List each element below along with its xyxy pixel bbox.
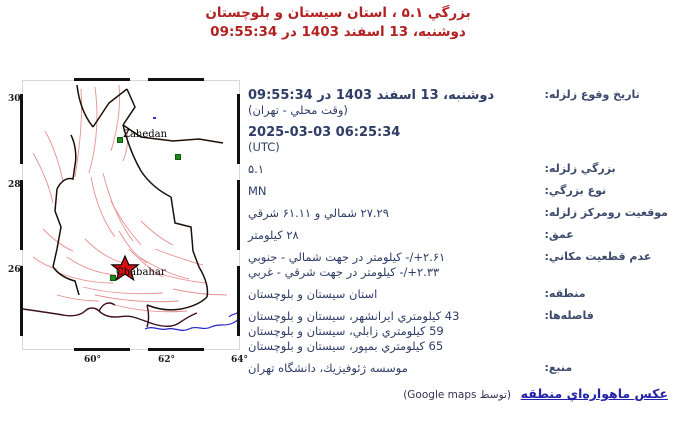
table-row: تاریخ وقوع زلزله: دوشنبه، 13 اسفند 1403 … [248,88,668,125]
row-label-depth: عمق: [545,228,668,250]
table-row: موقعیت رومركز زلزله: ۲۷.۲۹ شمالي و ۶۱.۱۱… [248,206,668,228]
row-label-origin-time-utc [545,125,668,162]
region-value: استان سیستان و بلوچستان [248,287,545,302]
table-row: عدم قطعیت مكاني: ۲.۶۱+/- كیلومتر در جهت … [248,250,668,287]
table-row: بزرگي زلزله: ۵.۱ [248,162,668,184]
sea-boundary [145,311,239,330]
city-label-zahedan: Zahedan [123,129,167,140]
map-frame-tick-right-1 [237,94,240,164]
table-row: منطقه: استان سیستان و بلوچستان [248,287,668,309]
row-label-distances: فاصله‌ها: [545,309,668,361]
magnitude-type-value: MN [248,184,545,199]
map-frame-tick-left-1 [20,94,23,164]
row-label-source: منبع: [545,361,668,383]
map-point-blue [153,117,156,119]
row-label-location-uncertainty: عدم قطعیت مكاني: [545,250,668,287]
uncertainty-north-south: ۲.۶۱+/- كیلومتر در جهت شمالي - جنوبي [248,250,545,265]
depth-value: ۲۸ كیلومتر [248,228,545,243]
row-label-magnitude-type: نوع بزرگي: [545,184,668,206]
origin-time-utc-note: (UTC) [248,140,545,155]
uncertainty-east-west: ۲.۳۳+/- كیلومتر در جهت شرقي - غربي [248,265,545,280]
distance-item-3: 65 كیلومتري بمپور، سیستان و بلوچستان [248,339,545,354]
row-value-epicenter: ۲۷.۲۹ شمالي و ۶۱.۱۱ شرقي [248,206,545,228]
row-value-origin-time: دوشنبه، 13 اسفند 1403 در 09:55:34 (وقت م… [248,88,545,125]
page-title: بزرگي ۵.۱ ، استان سیستان و بلوچستان دوشن… [0,4,676,42]
row-label-epicenter: موقعیت رومركز زلزله: [545,206,668,228]
map-frame-tick-bottom-2 [148,348,204,351]
origin-time-local: دوشنبه، 13 اسفند 1403 در 09:55:34 [248,88,545,103]
row-label-region: منطقه: [545,287,668,309]
row-value-magnitude: ۵.۱ [248,162,545,184]
table-row: فاصله‌ها: 43 كیلومتري ایرانشهر، سیستان و… [248,309,668,361]
map-point-green [175,154,181,160]
map-lon-tick-60: 60° [84,355,101,365]
map-vector-layer [23,81,239,349]
row-value-origin-time-utc: 2025-03-03 06:25:34 (UTC) [248,125,545,162]
page-title-line-1: بزرگي ۵.۱ ، استان سیستان و بلوچستان [0,4,676,23]
row-label-origin-time: تاریخ وقوع زلزله: [545,88,668,125]
page-title-line-2: دوشنبه، 13 اسفند 1403 در 09:55:34 [0,23,676,42]
table-row: 2025-03-03 06:25:34 (UTC) [248,125,668,162]
distance-item-1: 43 كیلومتري ایرانشهر، سیستان و بلوچستان [248,309,545,324]
map-frame-tick-top-2 [148,78,204,81]
map-canvas[interactable]: Zahedan Chabahar [22,80,240,350]
origin-time-local-note: (وقت محلي - تهران) [248,103,545,118]
table-row: منبع: موسسه ژئوفیزیك، دانشگاه تهران [248,361,668,383]
epicenter-coordinates: ۲۷.۲۹ شمالي و ۶۱.۱۱ شرقي [248,206,545,221]
epicenter-map[interactable]: 30° 28° 26° 60° 62° 64° [12,72,248,362]
table-row: نوع بزرگي: MN [248,184,668,206]
satellite-image-link[interactable]: عكس ماهواره‌اي منطقه [521,386,668,401]
satellite-image-credit: (توسط Google maps) [403,389,511,401]
origin-time-utc: 2025-03-03 06:25:34 [248,125,545,140]
row-label-magnitude: بزرگي زلزله: [545,162,668,184]
coastline [23,303,197,327]
satellite-image-row: عكس ماهواره‌اي منطقه (توسط Google maps) [248,386,668,401]
row-value-magnitude-type: MN [248,184,545,206]
map-frame-tick-top-1 [74,78,130,81]
map-lon-tick-62: 62° [158,355,175,365]
map-frame-tick-left-3 [20,266,23,336]
row-value-location-uncertainty: ۲.۶۱+/- كیلومتر در جهت شمالي - جنوبي ۲.۳… [248,250,545,287]
earthquake-details-table: تاریخ وقوع زلزله: دوشنبه، 13 اسفند 1403 … [248,88,668,383]
distance-item-2: 59 كیلومتري زابلي، سیستان و بلوچستان [248,324,545,339]
row-value-distances: 43 كیلومتري ایرانشهر، سیستان و بلوچستان … [248,309,545,361]
map-frame-tick-right-3 [237,266,240,336]
table-row: عمق: ۲۸ كیلومتر [248,228,668,250]
magnitude-value: ۵.۱ [248,162,545,177]
city-label-chabahar: Chabahar [116,267,166,278]
source-value: موسسه ژئوفیزیك، دانشگاه تهران [248,361,545,376]
map-frame-tick-bottom-1 [74,348,130,351]
map-lon-tick-64: 64° [231,355,248,365]
map-frame-tick-left-2 [20,180,23,250]
row-value-source: موسسه ژئوفیزیك، دانشگاه تهران [248,361,545,383]
map-frame-tick-right-2 [237,180,240,250]
row-value-region: استان سیستان و بلوچستان [248,287,545,309]
row-value-depth: ۲۸ كیلومتر [248,228,545,250]
